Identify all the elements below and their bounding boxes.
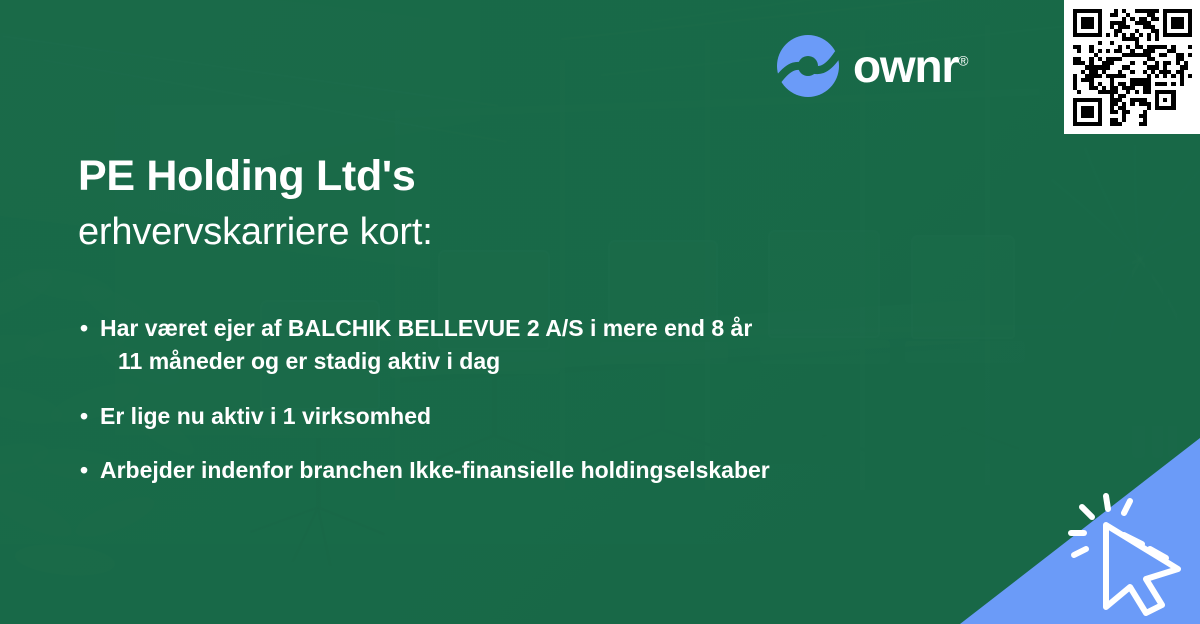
ownr-career-card: ownr® PE Holding Ltd's erhvervskarriere …: [0, 0, 1200, 624]
ownr-logo[interactable]: ownr®: [776, 34, 968, 98]
bullet-marker-icon: •: [80, 454, 100, 487]
bullet-marker-icon: •: [80, 400, 100, 433]
ownr-wordmark: ownr®: [853, 43, 968, 89]
list-item-line-1: Er lige nu aktiv i 1 virksomhed: [100, 403, 431, 429]
registered-mark: ®: [958, 53, 968, 69]
page-subtitle: erhvervskarriere kort:: [78, 208, 998, 257]
list-item: •Har været ejer af BALCHIK BELLEVUE 2 A/…: [80, 312, 1040, 379]
list-item: •Arbejder indenfor branchen Ikke-finansi…: [80, 454, 1040, 487]
list-item: •Er lige nu aktiv i 1 virksomhed: [80, 400, 1040, 433]
qr-code-grid: [1073, 9, 1192, 126]
click-cursor-icon: [1062, 491, 1192, 616]
ownr-circle-swoosh-icon: [776, 34, 840, 98]
list-item-text: Har været ejer af BALCHIK BELLEVUE 2 A/S…: [100, 312, 1040, 379]
page-title: PE Holding Ltd's: [78, 152, 998, 202]
list-item-line-1: Har været ejer af BALCHIK BELLEVUE 2 A/S…: [100, 315, 752, 341]
list-item-text: Arbejder indenfor branchen Ikke-finansie…: [100, 454, 1040, 487]
list-item-line-2: 11 måneder og er stadig aktiv i dag: [100, 345, 1040, 378]
ownr-wordmark-text: ownr: [853, 40, 958, 92]
career-facts-list: •Har været ejer af BALCHIK BELLEVUE 2 A/…: [80, 312, 1040, 508]
qr-code[interactable]: [1064, 0, 1200, 134]
list-item-line-1: Arbejder indenfor branchen Ikke-finansie…: [100, 457, 770, 483]
list-item-text: Er lige nu aktiv i 1 virksomhed: [100, 400, 1040, 433]
headline-block: PE Holding Ltd's erhvervskarriere kort:: [78, 152, 998, 257]
bullet-marker-icon: •: [80, 312, 100, 345]
